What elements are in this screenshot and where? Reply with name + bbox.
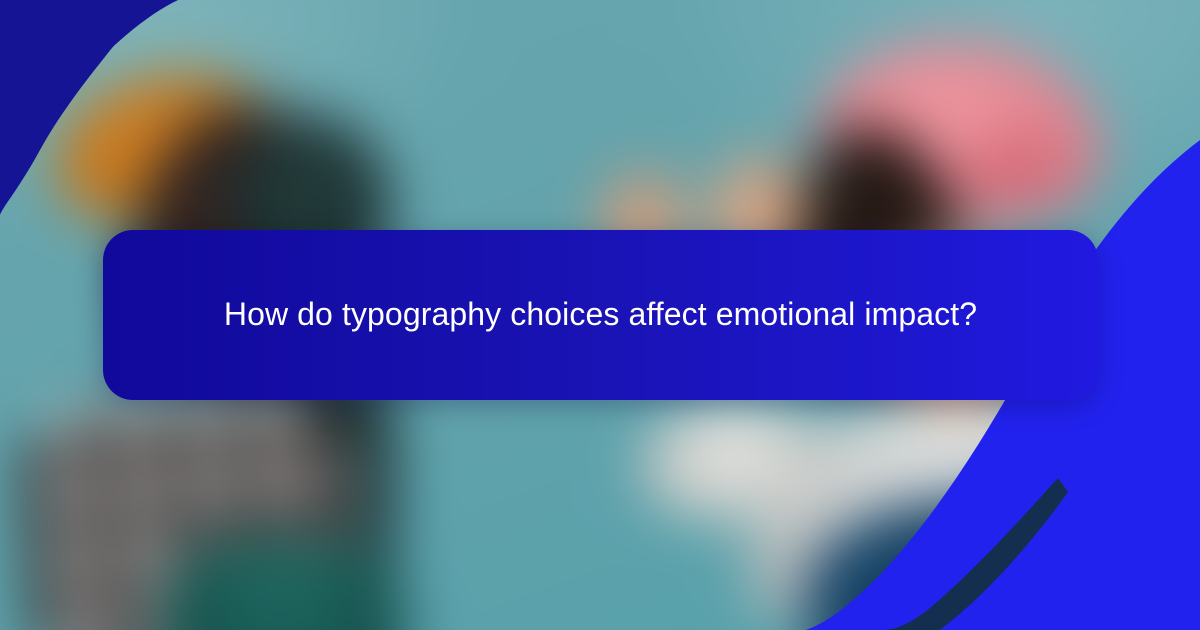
social-quote-card-canvas: How do typography choices affect emotion… [0,0,1200,630]
quote-card: How do typography choices affect emotion… [103,230,1098,400]
center-hand-lower [643,401,827,520]
quote-text: How do typography choices affect emotion… [200,289,1001,341]
